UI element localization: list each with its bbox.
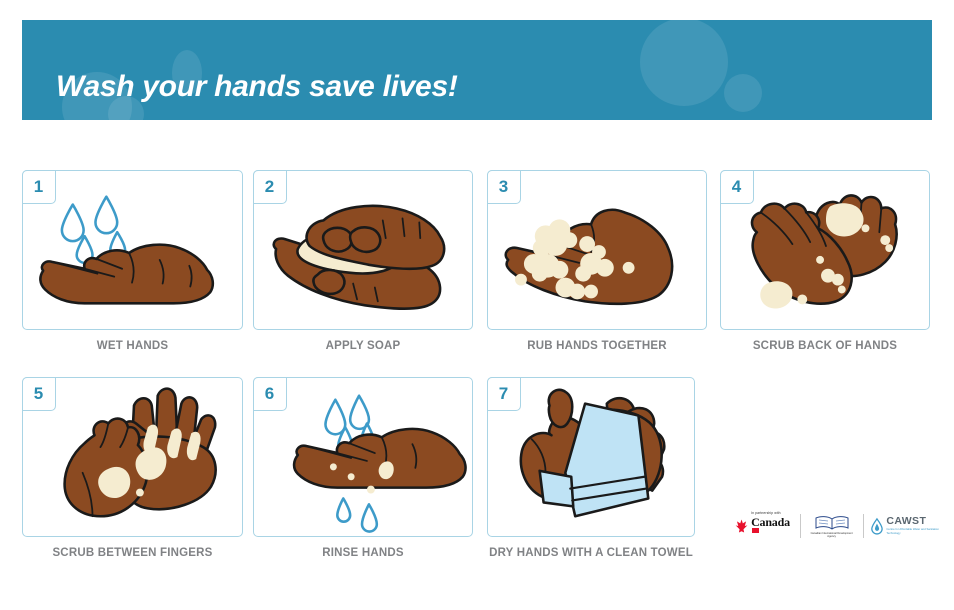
decorative-circle-large [640, 20, 728, 106]
illustration-rub-hands [488, 171, 706, 329]
step-caption-7: DRY HANDS WITH A CLEAN TOWEL [487, 547, 695, 559]
step-panel-7: 7 [487, 377, 695, 537]
cawst-wordmark: CAWST [886, 516, 940, 527]
step-card-5: 5 [22, 377, 243, 537]
step-panel-5: 5 [22, 377, 243, 537]
step-card-2: 2 [253, 170, 473, 330]
step-caption-2: APPLY SOAP [253, 340, 473, 352]
step-caption-4: SCRUB BACK OF HANDS [720, 340, 930, 352]
step-panel-3: 3 [487, 170, 707, 330]
step-caption-3: RUB HANDS TOGETHER [487, 340, 707, 352]
decorative-circle-small [724, 74, 762, 112]
partner-logos: In partnership with Canada Canadian Inte… [735, 508, 940, 544]
step-number-badge-5: 5 [22, 377, 56, 411]
step-caption-1: WET HANDS [22, 340, 243, 352]
step-panel-1: 1 WET HANDS [22, 170, 243, 330]
step-card-6: 6 [253, 377, 473, 537]
step-panel-6: 6 [253, 377, 473, 537]
illustration-wet-hands [23, 171, 242, 329]
step-panel-2: 2 [253, 170, 473, 330]
logo-canada: In partnership with Canada [735, 512, 792, 539]
canada-flag-icon [752, 528, 759, 533]
logo-divider-1 [800, 514, 801, 538]
logo-cawst: CAWST Centre for Affordable Water and Sa… [871, 516, 940, 536]
illustration-rinse-hands [254, 378, 472, 536]
step-panel-4: 4 [720, 170, 930, 330]
step-number-badge-4: 4 [720, 170, 754, 204]
open-book-icon [812, 514, 852, 531]
step-number-badge-7: 7 [487, 377, 521, 411]
step-card-4: 4 [720, 170, 930, 330]
canada-wordmark: Canada [751, 516, 792, 540]
step-number-badge-6: 6 [253, 377, 287, 411]
institution-caption: Canadian International Development Agenc… [809, 532, 855, 539]
illustration-scrub-between-fingers [23, 378, 242, 536]
illustration-apply-soap [254, 171, 472, 329]
cawst-tagline: Centre for Affordable Water and Sanitati… [886, 528, 940, 536]
maple-leaf-icon [735, 518, 748, 534]
step-card-1: 1 [22, 170, 243, 330]
step-number-badge-3: 3 [487, 170, 521, 204]
step-number-badge-2: 2 [253, 170, 287, 204]
logo-divider-2 [863, 514, 864, 538]
step-card-7: 7 [487, 377, 695, 537]
step-number-badge-1: 1 [22, 170, 56, 204]
step-caption-6: RINSE HANDS [253, 547, 473, 559]
page-title: Wash your hands save lives! [56, 70, 458, 104]
step-card-3: 3 [487, 170, 707, 330]
header-banner: Wash your hands save lives! [22, 20, 932, 120]
step-caption-5: SCRUB BETWEEN FINGERS [22, 547, 243, 559]
logo-institution: Canadian International Development Agenc… [809, 514, 855, 539]
water-drop-icon [871, 516, 883, 536]
